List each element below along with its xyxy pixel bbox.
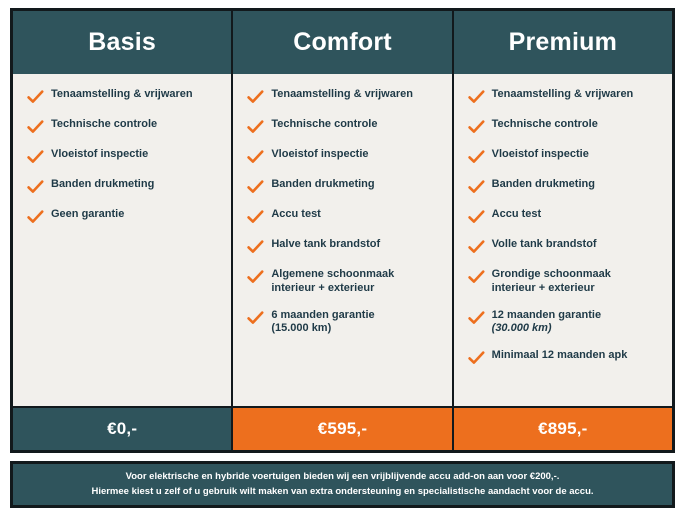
feature-label-main: Technische controle xyxy=(271,118,377,130)
feature-label: Vloeistof inspectie xyxy=(271,148,368,162)
feature-label: Tenaamstelling & vrijwaren xyxy=(51,88,193,102)
check-icon-wrap xyxy=(247,118,271,135)
feature-label-main: Minimaal 12 maanden apk xyxy=(492,349,628,361)
feature-label-main: Technische controle xyxy=(51,118,157,130)
check-icon xyxy=(247,270,264,285)
feature-label-main: Vloeistof inspectie xyxy=(51,148,148,160)
feature-item: Vloeistof inspectie xyxy=(247,148,441,165)
check-icon-wrap xyxy=(468,268,492,285)
package-column-premium: Premium Tenaamstelling & vrijwarenTechni… xyxy=(454,11,672,406)
feature-item: Banden drukmeting xyxy=(247,178,441,195)
feature-list-comfort: Tenaamstelling & vrijwarenTechnische con… xyxy=(233,74,451,406)
feature-label-main: Technische controle xyxy=(492,118,598,130)
check-icon-wrap xyxy=(247,178,271,195)
package-column-comfort: Comfort Tenaamstelling & vrijwarenTechni… xyxy=(233,11,451,406)
package-title-premium: Premium xyxy=(509,30,617,55)
feature-label-sub-italic: (30.000 km) xyxy=(492,322,601,336)
feature-label: Banden drukmeting xyxy=(492,178,595,192)
price-premium: €895,- xyxy=(538,419,587,439)
feature-label-main: Banden drukmeting xyxy=(271,178,374,190)
feature-label-main: Tenaamstelling & vrijwaren xyxy=(271,88,413,100)
check-icon-wrap xyxy=(468,309,492,326)
feature-item: Halve tank brandstof xyxy=(247,238,441,255)
feature-label: Tenaamstelling & vrijwaren xyxy=(492,88,634,102)
check-icon xyxy=(247,150,264,165)
pricing-table-page: Basis Tenaamstelling & vrijwarenTechnisc… xyxy=(0,0,685,514)
feature-item: Algemene schoonmaakinterieur + exterieur xyxy=(247,268,441,296)
check-icon-wrap xyxy=(247,309,271,326)
check-icon-wrap xyxy=(27,208,51,225)
check-icon xyxy=(247,240,264,255)
check-icon xyxy=(468,150,485,165)
feature-label-main: Grondige schoonmaak xyxy=(492,268,611,280)
check-icon xyxy=(247,210,264,225)
price-comfort: €595,- xyxy=(318,419,367,439)
feature-item: 12 maanden garantie(30.000 km) xyxy=(468,309,662,337)
feature-item: Vloeistof inspectie xyxy=(27,148,221,165)
price-cell-premium[interactable]: €895,- xyxy=(454,408,672,450)
package-header-comfort: Comfort xyxy=(233,11,451,74)
check-icon-wrap xyxy=(468,118,492,135)
feature-label: Banden drukmeting xyxy=(51,178,154,192)
price-cell-comfort[interactable]: €595,- xyxy=(233,408,451,450)
feature-label-main: Vloeistof inspectie xyxy=(271,148,368,160)
check-icon xyxy=(468,210,485,225)
feature-item: Technische controle xyxy=(27,118,221,135)
feature-label: 12 maanden garantie(30.000 km) xyxy=(492,309,601,337)
check-icon-wrap xyxy=(468,238,492,255)
feature-label-sub: interieur + exterieur xyxy=(492,282,611,296)
feature-label: Technische controle xyxy=(492,118,598,132)
feature-item: 6 maanden garantie(15.000 km) xyxy=(247,309,441,337)
check-icon-wrap xyxy=(27,178,51,195)
check-icon-wrap xyxy=(247,268,271,285)
feature-label: 6 maanden garantie(15.000 km) xyxy=(271,309,374,337)
feature-item: Vloeistof inspectie xyxy=(468,148,662,165)
feature-list-premium: Tenaamstelling & vrijwarenTechnische con… xyxy=(454,74,672,406)
feature-label-sub: (15.000 km) xyxy=(271,322,374,336)
check-icon-wrap xyxy=(27,118,51,135)
check-icon xyxy=(468,240,485,255)
check-icon-wrap xyxy=(27,88,51,105)
check-icon-wrap xyxy=(247,88,271,105)
feature-label-main: Accu test xyxy=(271,208,321,220)
feature-label: Banden drukmeting xyxy=(271,178,374,192)
feature-label-main: Banden drukmeting xyxy=(492,178,595,190)
feature-label: Vloeistof inspectie xyxy=(51,148,148,162)
pricing-card: Basis Tenaamstelling & vrijwarenTechnisc… xyxy=(10,8,675,453)
feature-label-main: 12 maanden garantie xyxy=(492,309,601,321)
footer-note-line-2: Hiermee kiest u zelf of u gebruik wilt m… xyxy=(91,485,593,500)
feature-item: Tenaamstelling & vrijwaren xyxy=(468,88,662,105)
check-icon xyxy=(468,311,485,326)
check-icon xyxy=(468,351,485,366)
feature-label-main: Accu test xyxy=(492,208,542,220)
check-icon-wrap xyxy=(468,208,492,225)
feature-item: Technische controle xyxy=(247,118,441,135)
feature-label-main: Geen garantie xyxy=(51,208,124,220)
check-icon-wrap xyxy=(468,88,492,105)
check-icon xyxy=(468,270,485,285)
check-icon xyxy=(27,210,44,225)
feature-list-basis: Tenaamstelling & vrijwarenTechnische con… xyxy=(13,74,231,406)
check-icon xyxy=(468,90,485,105)
check-icon xyxy=(247,311,264,326)
check-icon xyxy=(468,120,485,135)
feature-item: Accu test xyxy=(468,208,662,225)
feature-label: Algemene schoonmaakinterieur + exterieur xyxy=(271,268,394,296)
feature-item: Geen garantie xyxy=(27,208,221,225)
package-columns: Basis Tenaamstelling & vrijwarenTechnisc… xyxy=(13,11,672,406)
feature-label-main: Algemene schoonmaak xyxy=(271,268,394,280)
price-row: €0,- €595,- €895,- xyxy=(13,408,672,450)
feature-label: Geen garantie xyxy=(51,208,124,222)
package-title-basis: Basis xyxy=(88,30,156,55)
check-icon-wrap xyxy=(247,238,271,255)
feature-item: Tenaamstelling & vrijwaren xyxy=(27,88,221,105)
check-icon xyxy=(247,90,264,105)
feature-label-main: Vloeistof inspectie xyxy=(492,148,589,160)
feature-label-main: Tenaamstelling & vrijwaren xyxy=(51,88,193,100)
feature-item: Banden drukmeting xyxy=(27,178,221,195)
feature-label: Technische controle xyxy=(51,118,157,132)
feature-label-main: Volle tank brandstof xyxy=(492,238,597,250)
package-header-basis: Basis xyxy=(13,11,231,74)
feature-label: Accu test xyxy=(271,208,321,222)
check-icon-wrap xyxy=(468,349,492,366)
feature-label: Tenaamstelling & vrijwaren xyxy=(271,88,413,102)
footer-note: Voor elektrische en hybride voertuigen b… xyxy=(10,461,675,508)
check-icon-wrap xyxy=(468,178,492,195)
package-header-premium: Premium xyxy=(454,11,672,74)
check-icon-wrap xyxy=(247,208,271,225)
check-icon xyxy=(27,150,44,165)
feature-label: Technische controle xyxy=(271,118,377,132)
check-icon-wrap xyxy=(27,148,51,165)
feature-label: Accu test xyxy=(492,208,542,222)
check-icon xyxy=(27,90,44,105)
check-icon xyxy=(468,180,485,195)
feature-label-main: 6 maanden garantie xyxy=(271,309,374,321)
check-icon xyxy=(247,180,264,195)
feature-label-main: Tenaamstelling & vrijwaren xyxy=(492,88,634,100)
feature-label-main: Halve tank brandstof xyxy=(271,238,380,250)
footer-note-line-1: Voor elektrische en hybride voertuigen b… xyxy=(126,470,560,485)
feature-item: Grondige schoonmaakinterieur + exterieur xyxy=(468,268,662,296)
check-icon xyxy=(27,180,44,195)
feature-label-main: Banden drukmeting xyxy=(51,178,154,190)
price-cell-basis[interactable]: €0,- xyxy=(13,408,231,450)
feature-item: Technische controle xyxy=(468,118,662,135)
feature-item: Tenaamstelling & vrijwaren xyxy=(247,88,441,105)
feature-label: Grondige schoonmaakinterieur + exterieur xyxy=(492,268,611,296)
check-icon-wrap xyxy=(247,148,271,165)
price-basis: €0,- xyxy=(107,419,137,439)
check-icon-wrap xyxy=(468,148,492,165)
feature-label: Volle tank brandstof xyxy=(492,238,597,252)
feature-item: Volle tank brandstof xyxy=(468,238,662,255)
check-icon xyxy=(27,120,44,135)
feature-item: Banden drukmeting xyxy=(468,178,662,195)
feature-label: Vloeistof inspectie xyxy=(492,148,589,162)
feature-label: Halve tank brandstof xyxy=(271,238,380,252)
feature-item: Minimaal 12 maanden apk xyxy=(468,349,662,366)
feature-label: Minimaal 12 maanden apk xyxy=(492,349,628,363)
feature-item: Accu test xyxy=(247,208,441,225)
package-column-basis: Basis Tenaamstelling & vrijwarenTechnisc… xyxy=(13,11,231,406)
check-icon xyxy=(247,120,264,135)
package-title-comfort: Comfort xyxy=(293,30,392,55)
feature-label-sub: interieur + exterieur xyxy=(271,282,394,296)
